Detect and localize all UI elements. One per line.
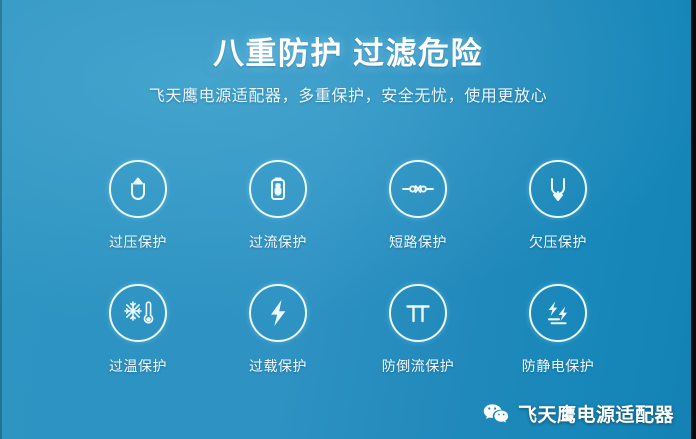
feature-label: 过温保护 xyxy=(109,356,167,376)
icon-circle xyxy=(249,160,307,218)
undervoltage-u-down-arrow-icon xyxy=(541,172,575,206)
feature-item-overload[interactable]: 过载保护 xyxy=(218,284,338,376)
feature-label: 短路保护 xyxy=(389,232,447,252)
promo-banner: 八重防护 过滤危险 飞天鹰电源适配器，多重保护，安全无忧，使用更放心 过压保护 xyxy=(0,0,696,439)
icon-circle xyxy=(389,160,447,218)
feature-grid: 过压保护 过流保护 xyxy=(78,160,618,408)
page-subtitle: 飞天鹰电源适配器，多重保护，安全无忧，使用更放心 xyxy=(0,82,696,106)
watermark-brand: 飞天鹰电源适配器 xyxy=(518,400,674,427)
feature-label: 防倒流保护 xyxy=(382,356,455,376)
feature-row: 过压保护 过流保护 xyxy=(78,160,618,252)
icon-circle xyxy=(529,284,587,342)
icon-circle xyxy=(389,284,447,342)
right-edge-border xyxy=(691,0,696,439)
feature-label: 过压保护 xyxy=(109,232,167,252)
icon-circle xyxy=(109,284,167,342)
icon-circle xyxy=(109,160,167,218)
feature-item-backflow[interactable]: 防倒流保护 xyxy=(358,284,478,376)
feature-item-short-circuit[interactable]: 短路保护 xyxy=(358,160,478,252)
icon-circle xyxy=(249,284,307,342)
feature-item-undervoltage[interactable]: 欠压保护 xyxy=(498,160,618,252)
icon-circle xyxy=(529,160,587,218)
snowflake-thermometer-icon xyxy=(120,296,156,330)
feature-label: 过载保护 xyxy=(249,356,307,376)
feature-label: 欠压保护 xyxy=(529,232,587,252)
wechat-icon xyxy=(483,403,509,425)
feature-label: 防静电保护 xyxy=(522,356,595,376)
short-circuit-fuse-icon xyxy=(399,172,437,206)
feature-row: 过温保护 过载保护 xyxy=(78,284,618,376)
pi-backflow-icon xyxy=(401,296,435,330)
page-title: 八重防护 过滤危险 xyxy=(0,28,696,73)
battery-plug-icon xyxy=(261,172,295,206)
feature-item-overvoltage[interactable]: 过压保护 xyxy=(78,160,198,252)
watermark: 飞天鹰电源适配器 xyxy=(483,400,674,427)
antistatic-double-bolt-icon xyxy=(541,296,575,330)
lightning-bolt-icon xyxy=(261,296,295,330)
feature-item-overtemperature[interactable]: 过温保护 xyxy=(78,284,198,376)
feature-item-overcurrent[interactable]: 过流保护 xyxy=(218,160,338,252)
feature-label: 过流保护 xyxy=(249,232,307,252)
overvoltage-u-up-arrow-icon xyxy=(121,172,155,206)
feature-item-antistatic[interactable]: 防静电保护 xyxy=(498,284,618,376)
